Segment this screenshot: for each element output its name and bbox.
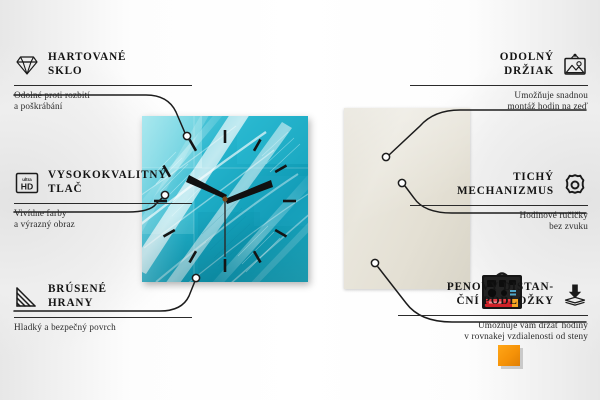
ultra-hd-icon: ultra HD <box>14 170 40 196</box>
gear-icon <box>562 172 588 198</box>
infographic-canvas: HARTOVANÉ SKLO Odolné proti rozbití a po… <box>0 0 600 400</box>
feature-divider <box>410 205 588 206</box>
feature-divider <box>410 85 588 86</box>
feature-title: HARTOVANÉ SKLO <box>48 51 126 78</box>
wire-durable-hanger <box>389 110 586 155</box>
node-durable-hanger[interactable] <box>382 153 389 160</box>
node-silent-mechanism[interactable] <box>398 179 405 186</box>
feature-divider <box>14 85 192 86</box>
node-tempered-glass[interactable] <box>183 132 190 139</box>
feature-header: HARTOVANÉ SKLO <box>14 50 192 80</box>
feature-subtitle: Odolné proti rozbití a poškrábání <box>14 90 192 113</box>
feature-header: ultra HD VYSOKOKVALITNÝ TLAČ <box>14 168 192 198</box>
svg-text:HD: HD <box>21 182 33 192</box>
feature-divider <box>14 203 192 204</box>
feature-title: BRÚSENÉ HRANY <box>48 283 107 310</box>
feature-subtitle: Umožňuje snadnou montáž hodin na zeď <box>410 90 588 113</box>
node-ground-edges[interactable] <box>192 274 199 281</box>
feature-divider <box>14 317 192 318</box>
feature-divider <box>398 315 588 316</box>
feature-ground-edges: BRÚSENÉ HRANY Hladký a bezpečný povrch <box>14 282 192 333</box>
feature-header: TICHÝ MECHANIZMUS <box>410 170 588 200</box>
feature-header: BRÚSENÉ HRANY <box>14 282 192 312</box>
feature-title: TICHÝ MECHANIZMUS <box>457 171 554 198</box>
feature-subtitle: Hodinové ručičky bez zvuku <box>410 210 588 233</box>
feature-header: ODOLNÝ DRŽIAK <box>410 50 588 80</box>
feature-subtitle: Vivídne farby a výrazný obraz <box>14 208 192 231</box>
feature-durable-hanger: ODOLNÝ DRŽIAK Umožňuje snadnou montáž ho… <box>410 50 588 113</box>
feature-high-quality-print: ultra HD VYSOKOKVALITNÝ TLAČ Vivídne far… <box>14 168 192 231</box>
feature-foam-spacers: PENOVÝ DISTAN- ČNÍ PODLOŽKY Umožňuje vám… <box>398 280 588 343</box>
hatched-edge-icon <box>14 284 40 310</box>
press-pad-icon <box>562 282 588 308</box>
feature-tempered-glass: HARTOVANÉ SKLO Odolné proti rozbití a po… <box>14 50 192 113</box>
node-foam-spacers[interactable] <box>371 259 378 266</box>
feature-silent-mechanism: TICHÝ MECHANIZMUS Hodinové ručičky bez z… <box>410 170 588 233</box>
feature-title: VYSOKOKVALITNÝ TLAČ <box>48 169 167 196</box>
picture-frame-hanger-icon <box>562 52 588 78</box>
diamond-icon <box>14 52 40 78</box>
feature-subtitle: Umožňuje vám držať hodiny v rovnakej vzd… <box>398 320 588 343</box>
feature-title: PENOVÝ DISTAN- ČNÍ PODLOŽKY <box>447 281 554 308</box>
feature-title: ODOLNÝ DRŽIAK <box>500 51 554 78</box>
feature-header: PENOVÝ DISTAN- ČNÍ PODLOŽKY <box>398 280 588 310</box>
feature-subtitle: Hladký a bezpečný povrch <box>14 322 192 333</box>
